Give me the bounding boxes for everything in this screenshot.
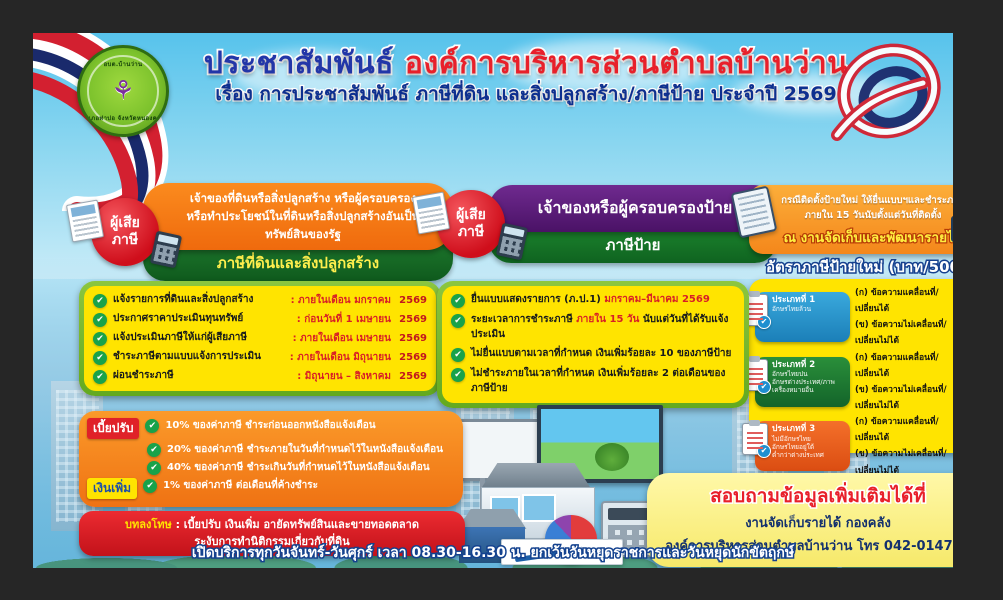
schedule-label-group: ✔ แจ้งประเมินภาษีให้แก่ผู้เสียภาษี [93,331,287,346]
category-sublabel: ไม่มีอักษรไทย อักษรไทยอยู่ใต้ ต่ำกว่าต่า… [772,435,846,459]
sign-text-highlight: ภายใน 15 วัน [576,314,639,325]
check-icon: ✔ [147,443,161,457]
fine-tag: เบี้ยปรับ [87,418,139,439]
land-schedule-list: ✔ แจ้งรายการที่ดินและสิ่งปลูกสร้าง : ภาย… [84,286,436,391]
schedule-label: แจ้งประเมินภาษีให้แก่ผู้เสียภาษี [113,331,247,346]
document-icon [412,192,450,235]
sign-schedule-list: ✔ ยื่นแบบแสดงรายการ (ภ.ป.1) มกราคม–มีนาค… [442,286,744,403]
sign-text-pre: ยื่นแบบแสดงรายการ (ภ.ป.1) [471,294,604,305]
schedule-year: 2569 [397,352,427,363]
list-item: ✔ ประกาศราคาประเมินทุนทรัพย์ : ก่อนวันที… [93,312,427,327]
land-tax-description-group: เจ้าของที่ดินหรือสิ่งปลูกสร้าง หรือผู้คร… [143,183,453,281]
schedule-year: 2569 [397,333,427,344]
service-hours-footer: เปิดบริการทุกวันจันทร์-วันศุกร์ เวลา 08.… [33,542,953,564]
rate-item-text: (ก) ข้อความแคลื่อนที่/เปลี่ยนได้ [855,414,953,446]
contact-line1: งานจัดเก็บรายได้ กองคลัง [657,515,953,534]
land-taxpayer-description: เจ้าของที่ดินหรือสิ่งปลูกสร้าง หรือผู้คร… [143,183,453,250]
monitor-chart-icon [951,216,953,250]
schedule-label-group: ✔ ประกาศราคาประเมินทุนทรัพย์ [93,312,291,327]
check-badge-icon: ✔ [757,315,771,329]
check-icon: ✔ [451,368,465,382]
document-icon [66,200,104,243]
taxpayer-badge-sign: ผู้เสีย ภาษี [437,190,505,258]
list-item: เบี้ยปรับ ✔ 10% ของค่าภาษี ชำระก่อนออกหน… [87,418,453,439]
list-item: ✔ ไม่ยื่นแบบตามเวลาที่กำหนด เงินเพิ่มร้อ… [451,347,735,362]
taxpayer-land-group: ผู้เสีย ภาษี เจ้าของที่ดินหรือสิ่งปลูกสร… [91,183,453,281]
rate-category-2: ✔ ประเภทที่ 2 อักษรไทยปน อักษรต่างประเทศ… [755,357,850,407]
criminal-line1: บทลงโทษ : เบี้ยปรับ เงินเพิ่ม อายัดทรัพย… [89,517,455,534]
land-tax-schedule-panel: ✔ แจ้งรายการที่ดินและสิ่งปลูกสร้าง : ภาย… [79,281,441,396]
schedule-period: : มิถุนายน – สิงหาคม [297,369,391,384]
poster-header: ประชาสัมพันธ์ องค์การบริหารส่วนตำบลบ้านว… [181,47,871,104]
taxpayer-badge-land: ผู้เสีย ภาษี [91,198,159,266]
schedule-period: : ภายในเดือน เมษายน [293,331,391,346]
poster-canvas: อบต.บ้านว่าน ⚘ อำเภอท่าบ่อ จังหวัดหนองคา… [33,33,953,568]
surcharge-item-text: 1% ของค่าภาษี ต่อเดือนที่ค้างชำระ [163,478,318,493]
schedule-period: : ภายในเดือน มกราคม [291,293,391,308]
page-title: ประชาสัมพันธ์ องค์การบริหารส่วนตำบลบ้านว… [181,47,871,81]
new-sign-notice: กรณีติดตั้งป้ายใหม่ ให้ยื่นแบบฯและชำระภา… [749,185,953,254]
criminal-text: : เบี้ยปรับ เงินเพิ่ม อายัดทรัพย์สินและข… [172,518,419,531]
page-subtitle: เรื่อง การประชาสัมพันธ์ ภาษีที่ดิน และสิ… [181,85,871,104]
schedule-period: : ก่อนวันที่ 1 เมษายน [297,312,391,327]
category-sublabel: อักษรไทยปน อักษรต่างประเทศ/ภาพ เครื่องหม… [772,370,846,394]
sign-schedule-text: ระยะเวลาการชำระภาษี ภายใน 15 วัน นับแต่ว… [471,313,735,342]
rate-item-text: (ข) ข้อความไม่เคลื่อนที่/เปลี่ยนไม่ได้ [855,382,953,414]
schedule-period: : ภายในเดือน มิถุนายน [290,350,391,365]
penalty-panel: เบี้ยปรับ ✔ 10% ของค่าภาษี ชำระก่อนออกหน… [79,411,463,507]
rate-item-texts: (ก) ข้อความแคลื่อนที่/เปลี่ยนได้ (ข) ข้อ… [855,350,953,415]
title-part-2: องค์การบริหารส่วนตำบลบ้านว่าน [405,46,848,81]
title-part-1: ประชาสัมพันธ์ [204,46,405,81]
check-badge-icon: ✔ [757,380,771,394]
tree-graphic [595,443,629,471]
list-item: ✔ ชำระภาษีตามแบบแจ้งการประเมิน : ภายในเด… [93,350,427,365]
schedule-year: 2569 [397,295,427,306]
check-icon: ✔ [451,314,465,328]
emblem-top-text: อบต.บ้านว่าน [80,59,166,69]
taxpayer-badge-line2: ภาษี [112,232,138,250]
table-row: ✔ ประเภทที่ 2 อักษรไทยปน อักษรต่างประเทศ… [755,350,953,415]
fine-item-text: 40% ของค่าภาษี ชำระเกินวันที่กำหนดไว้ในห… [167,460,430,475]
list-item: เงินเพิ่ม ✔ 1% ของค่าภาษี ต่อเดือนที่ค้า… [87,478,453,499]
schedule-label: ผ่อนชำระภาษี [113,369,174,384]
schedule-label: ชำระภาษีตามแบบแจ้งการประเมิน [113,350,261,365]
check-icon: ✔ [93,294,107,308]
list-item: ✔ 20% ของค่าภาษี ชำระภายในวันที่กำหนดไว้… [87,442,453,457]
check-icon: ✔ [93,370,107,384]
schedule-label-group: ✔ แจ้งรายการที่ดินและสิ่งปลูกสร้าง [93,293,285,308]
category-label: ประเภทที่ 3 [772,424,846,434]
taxpayer-badge-line1: ผู้เสีย [456,207,486,225]
list-item: ✔ ยื่นแบบแสดงรายการ (ภ.ป.1) มกราคม–มีนาค… [451,293,735,308]
taxpayer-sign-group: ผู้เสีย ภาษี เจ้าของหรือผู้ครอบครองป้าย … [437,185,777,263]
rate-category-3: ✔ ประเภทที่ 3 ไม่มีอักษรไทย อักษรไทยอยู่… [755,421,850,471]
rate-item-text: (ก) ข้อความแคลื่อนที่/เปลี่ยนได้ [855,350,953,382]
list-item: ✔ ระยะเวลาการชำระภาษี ภายใน 15 วัน นับแต… [451,313,735,342]
rate-category-1: ✔ ประเภทที่ 1 อักษรไทยล้วน [755,292,850,342]
category-label: ประเภทที่ 1 [772,295,846,305]
sign-tax-schedule-panel: ✔ ยื่นแบบแสดงรายการ (ภ.ป.1) มกราคม–มีนาค… [437,281,749,408]
sign-text-pre: ระยะเวลาการชำระภาษี [471,314,576,325]
check-icon: ✔ [93,313,107,327]
sign-text-highlight: มกราคม–มีนาคม 2569 [604,294,710,305]
taxpayer-badge-line1: ผู้เสีย [110,215,140,233]
schedule-label: แจ้งรายการที่ดินและสิ่งปลูกสร้าง [113,293,253,308]
check-icon: ✔ [145,419,159,433]
check-icon: ✔ [93,351,107,365]
check-icon: ✔ [93,332,107,346]
check-icon: ✔ [451,294,465,308]
notice-line2: ภายใน 15 วันนับตั้งแต่วันที่ติดตั้ง [759,208,953,223]
schedule-label-group: ✔ ผ่อนชำระภาษี [93,369,291,384]
schedule-year: 2569 [397,314,427,325]
fine-item-text: 10% ของค่าภาษี ชำระก่อนออกหนังสือแจ้งเตื… [165,418,375,433]
rate-item-text: (ก) ข้อความแคลื่อนที่/เปลี่ยนได้ [855,285,953,317]
list-item: ✔ 40% ของค่าภาษี ชำระเกินวันที่กำหนดไว้ใ… [87,460,453,475]
check-icon: ✔ [143,479,157,493]
list-item: ✔ แจ้งรายการที่ดินและสิ่งปลูกสร้าง : ภาย… [93,293,427,308]
rate-item-texts: (ก) ข้อความแคลื่อนที่/เปลี่ยนได้ (ข) ข้อ… [855,414,953,479]
emblem-bottom-text: อำเภอท่าบ่อ จังหวัดหนองคาย [80,113,166,123]
sign-schedule-text: ยื่นแบบแสดงรายการ (ภ.ป.1) มกราคม–มีนาคม … [471,293,710,308]
list-item: ✔ ไม่ชำระภายในเวลาที่กำหนด เงินเพิ่มร้อย… [451,367,735,396]
check-icon: ✔ [451,348,465,362]
sign-rate-table: ✔ ประเภทที่ 1 อักษรไทยล้วน (ก) ข้อความแค… [749,279,953,453]
notice-line3: ณ งานจัดเก็บและพัฒนารายได้ [759,226,953,248]
tax-illustration [449,405,659,565]
check-badge-icon: ✔ [757,444,771,458]
fine-item-text: 20% ของค่าภาษี ชำระภายในวันที่กำหนดไว้ใน… [167,442,443,457]
clipboard-icon: ✔ [742,423,768,455]
schedule-label: ประกาศราคาประเมินทุนทรัพย์ [113,312,243,327]
table-row: ✔ ประเภทที่ 1 อักษรไทยล้วน (ก) ข้อความแค… [755,285,953,350]
table-row: ✔ ประเภทที่ 3 ไม่มีอักษรไทย อักษรไทยอยู่… [755,414,953,479]
rate-item-text: (ข) ข้อความไม่เคลื่อนที่/เปลี่ยนไม่ได้ [855,317,953,349]
taxpayer-badge-line2: ภาษี [458,224,484,242]
category-sublabel: อักษรไทยล้วน [772,305,846,313]
contact-heading: สอบถามข้อมูลเพิ่มเติมได้ที่ [657,481,953,511]
municipality-emblem: อบต.บ้านว่าน ⚘ อำเภอท่าบ่อ จังหวัดหนองคา… [77,45,169,137]
monitor-screen [951,216,953,242]
sign-schedule-text: ไม่ยื่นแบบตามเวลาที่กำหนด เงินเพิ่มร้อยล… [471,347,731,362]
schedule-label-group: ✔ ชำระภาษีตามแบบแจ้งการประเมิน [93,350,284,365]
notice-line1: กรณีติดตั้งป้ายใหม่ ให้ยื่นแบบฯและชำระภา… [759,193,953,208]
house-roof [467,463,605,489]
sign-schedule-text: ไม่ชำระภายในเวลาที่กำหนด เงินเพิ่มร้อยละ… [471,367,735,396]
criminal-tag: บทลงโทษ [125,518,172,531]
list-item: ✔ แจ้งประเมินภาษีให้แก่ผู้เสียภาษี : ภาย… [93,331,427,346]
rate-item-texts: (ก) ข้อความแคลื่อนที่/เปลี่ยนได้ (ข) ข้อ… [855,285,953,350]
list-item: ✔ ผ่อนชำระภาษี : มิถุนายน – สิงหาคม 2569 [93,369,427,384]
ribbon-swirl-decoration [827,39,947,149]
category-label: ประเภทที่ 2 [772,360,846,370]
schedule-year: 2569 [397,371,427,382]
check-icon: ✔ [147,461,161,475]
surcharge-tag: เงินเพิ่ม [87,478,137,499]
